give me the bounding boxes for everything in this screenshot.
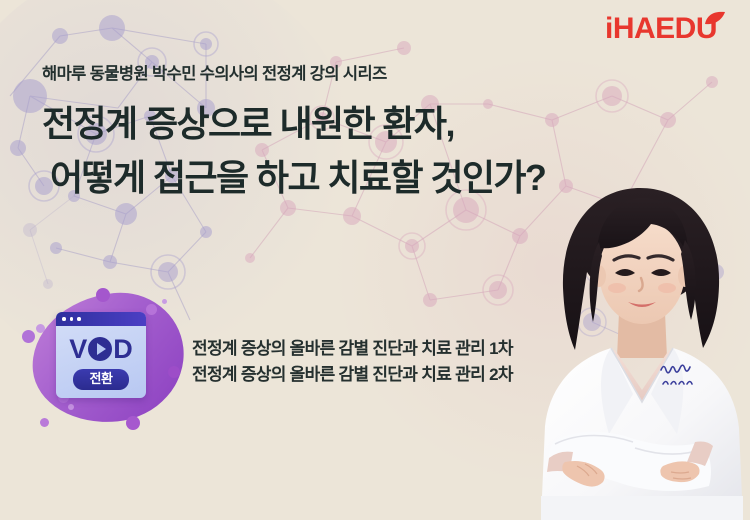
cheek-right [658,283,676,293]
headline-block: 해마루 동물병원 박수민 수의사의 전정계 강의 시리즈 전정계 증상으로 내원… [42,60,545,201]
vod-badge[interactable]: V D 전환 [22,288,202,433]
decorative-dot [126,416,140,430]
window-dot-icon [77,317,81,321]
cheek-left [608,283,626,293]
play-icon [88,337,112,361]
coat-hem [541,496,743,520]
window-dot-icon [62,317,66,321]
vod-wordmark: V D [69,336,133,363]
brand-logo[interactable]: iHAEDU [605,14,726,44]
course-list: 전정계 증상의 올바른 감별 진단과 치료 관리 1차 전정계 증상의 올바른 … [192,336,513,389]
vod-letter-d: D [113,336,133,363]
decorative-dot [36,324,45,333]
leaf-icon [704,11,726,27]
vod-window-titlebar [56,312,146,326]
decorative-dot [96,288,110,302]
promo-banner: iHAEDU 해마루 동물병원 박수민 수의사의 전정계 강의 시리즈 전정계 … [0,0,750,520]
list-item[interactable]: 전정계 증상의 올바른 감별 진단과 치료 관리 2차 [192,362,513,388]
brand-logo-text: iHAEDU [605,14,717,44]
banner-subtitle: 해마루 동물병원 박수민 수의사의 전정계 강의 시리즈 [42,60,545,84]
list-item[interactable]: 전정계 증상의 올바른 감별 진단과 치료 관리 1차 [192,336,513,362]
presenter-photo [535,180,750,520]
decorative-dot [40,418,49,427]
window-dot-icon [70,317,74,321]
vod-browser-window-icon: V D 전환 [56,312,146,398]
decorative-dot [22,330,35,343]
vod-window-body: V D 전환 [56,326,146,398]
decorative-dot [146,304,157,315]
vod-letter-v: V [69,336,87,363]
decorative-dot [68,404,74,410]
banner-title-line-2: 어떻게 접근을 하고 치료할 것인가? [42,154,545,202]
decorative-dot [162,299,167,304]
banner-title-line-1: 전정계 증상으로 내원한 환자, [42,100,545,148]
decorative-dot [168,366,180,378]
vod-convert-pill[interactable]: 전환 [73,369,128,390]
lab-coat [541,348,743,520]
